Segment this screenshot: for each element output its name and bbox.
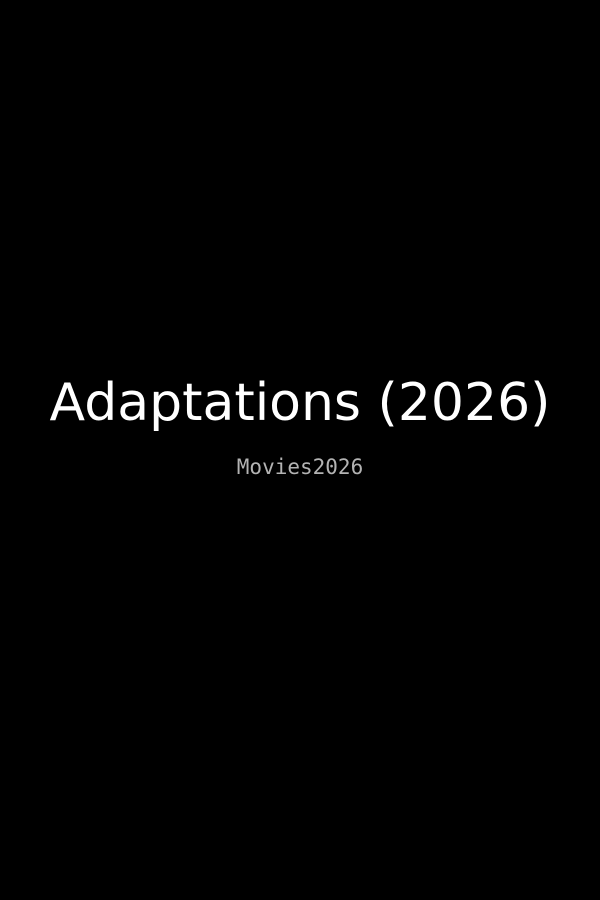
poster-subtitle: Movies2026 [0,457,600,478]
poster-title: Adaptations (2026) [0,377,600,429]
poster-placeholder: Adaptations (2026) Movies2026 [0,0,600,900]
poster-text-block: Adaptations (2026) Movies2026 [0,377,600,478]
